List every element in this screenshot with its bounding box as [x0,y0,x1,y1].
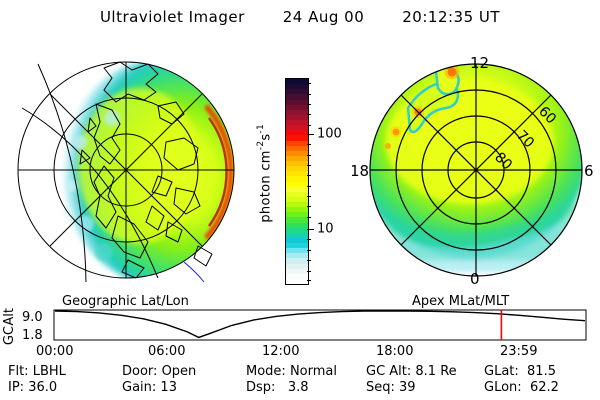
status-gcalt: GC Alt: 8.1 Re [366,364,457,379]
status-door: Door: Open [122,364,196,379]
colorbar-minor-tick [307,206,311,207]
colorbar-minor-tick [307,125,311,126]
colorbar-minor-tick [307,271,311,272]
geographic-image-panel[interactable] [8,46,256,294]
mlt-grid [370,64,582,276]
colorbar-tick-label: 100 [317,126,342,141]
status-glat: GLat: 81.5 [484,364,556,379]
colorbar-minor-tick [307,165,311,166]
mlt-label-6: 6 [584,162,594,180]
status-ip: IP: 36.0 [8,380,57,395]
status-gain: Gain: 13 [122,380,177,395]
colorbar-minor-tick [307,155,311,156]
colorbar-gradient [285,78,309,285]
time-tick-4: 23:59 [500,344,537,359]
observation-date: 24 Aug 00 [283,8,365,26]
colorbar-minor-tick [307,186,311,187]
status-seq: Seq: 39 [366,380,416,395]
colorbar-panel: photon cm-2s-1 10010 [258,46,350,296]
colorbar-minor-tick [307,280,311,281]
apex-mlt-panel[interactable]: 12 6 0 18 60 70 80 [352,46,600,294]
mlt-label-0: 0 [470,270,480,288]
time-tick-1: 06:00 [148,344,185,359]
colorbar-minor-tick [307,144,311,145]
mlt-label-12: 12 [470,54,489,72]
mlt-label-18: 18 [352,162,369,180]
instrument-title: Ultraviolet Imager [100,8,245,26]
geographic-panel-title: Geographic Lat/Lon [62,294,189,309]
status-mode: Mode: Normal [246,364,337,379]
apex-panel-title: Apex MLat/MLT [412,294,509,309]
colorbar-minor-tick [307,94,311,95]
orbit-altitude-plot[interactable] [0,308,600,342]
time-tick-3: 18:00 [376,344,413,359]
colorbar-major-tick [307,134,314,135]
colorbar-tick-label: 10 [317,222,334,237]
orbit-altitude-curve [55,311,585,337]
colorbar-segment [286,279,308,284]
colorbar-minor-tick [307,239,311,240]
geo-terminator-line [184,262,204,282]
observation-time: 20:12:35 UT [402,8,500,26]
colorbar-minor-tick [307,83,311,84]
colorbar-major-tick [307,229,314,230]
colorbar-minor-tick [307,114,311,115]
time-tick-0: 00:00 [36,344,73,359]
header-bar: Ultraviolet Imager24 Aug 0020:12:35 UT [0,8,600,26]
colorbar-minor-tick [307,217,311,218]
colorbar-ticks: 10010 [307,78,347,285]
colorbar-minor-tick [307,260,311,261]
geo-aurora-emission [62,60,254,284]
colorbar-minor-tick [307,175,311,176]
status-dsp: Dsp: 3.8 [246,380,309,395]
colorbar-minor-tick [307,104,311,105]
status-glon: GLon: 62.2 [484,380,559,395]
colorbar-minor-tick [307,250,311,251]
colorbar-axis-label: photon cm-2s-1 [256,124,282,223]
time-tick-2: 12:00 [262,344,299,359]
status-flt: Flt: LBHL [8,364,66,379]
colorbar-minor-tick [307,196,311,197]
